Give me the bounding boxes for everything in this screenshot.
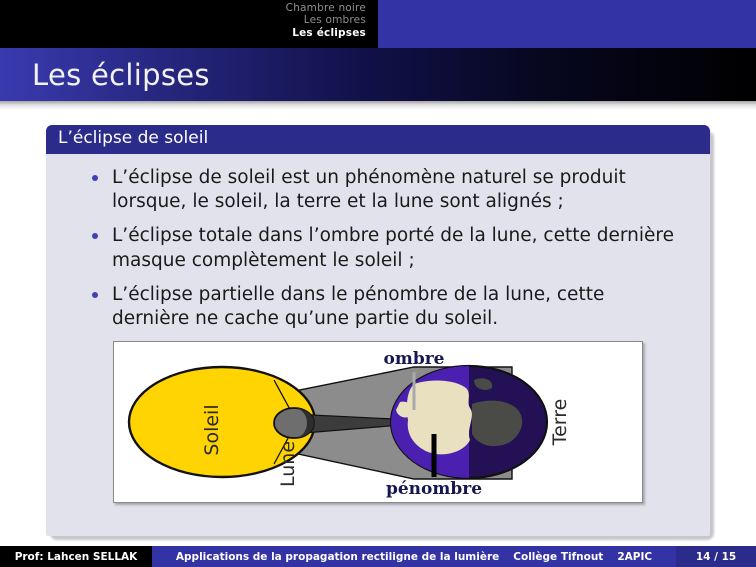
- footer-page-number: 14 / 15: [676, 546, 756, 567]
- penumbra-label: pénombre: [386, 479, 482, 499]
- navigation-bar: Chambre noire Les ombres Les éclipses: [0, 0, 756, 48]
- block-body: L’éclipse de soleil est un phénomène nat…: [46, 154, 710, 536]
- bullet-list: L’éclipse de soleil est un phénomène nat…: [60, 166, 696, 333]
- list-item: L’éclipse de soleil est un phénomène nat…: [90, 166, 678, 216]
- footer-author-text: Prof: Lahcen SELLAK: [15, 551, 138, 563]
- sun-label: Soleil: [201, 405, 223, 456]
- footer-bar: Prof: Lahcen SELLAK Applications de la p…: [0, 546, 756, 567]
- slide-title-bar: Les éclipses: [0, 48, 756, 101]
- navigation-items: Chambre noire Les ombres Les éclipses: [0, 2, 370, 39]
- footer-author: Prof: Lahcen SELLAK: [0, 546, 152, 567]
- footer-subject: Applications de la propagation rectilign…: [176, 551, 499, 563]
- nav-item-les-eclipses[interactable]: Les éclipses: [0, 27, 370, 39]
- list-item: L’éclipse partielle dans le pénombre de …: [90, 283, 678, 333]
- nav-item-les-ombres[interactable]: Les ombres: [0, 14, 370, 26]
- block-heading: L’éclipse de soleil: [46, 125, 710, 154]
- nav-item-chambre-noire[interactable]: Chambre noire: [0, 2, 370, 14]
- page-title: Les éclipses: [32, 58, 210, 92]
- title-bar-shadow: [0, 101, 756, 110]
- list-item: L’éclipse totale dans l’ombre porté de l…: [90, 224, 678, 274]
- footer-school: Collège Tifnout: [513, 551, 603, 563]
- moon-label: Lune: [277, 441, 299, 487]
- earth-label: Terre: [549, 399, 571, 447]
- footer-info: Applications de la propagation rectilign…: [152, 546, 676, 567]
- content-block: L’éclipse de soleil L’éclipse de soleil …: [46, 125, 710, 536]
- umbra-label: ombre: [384, 349, 445, 369]
- footer-page-text: 14 / 15: [696, 551, 736, 563]
- footer-grade: 2APIC: [617, 551, 652, 563]
- solar-eclipse-diagram: Soleil Lune Terre ombre pénombre: [113, 341, 643, 503]
- earth-landmass-lit: [407, 381, 472, 455]
